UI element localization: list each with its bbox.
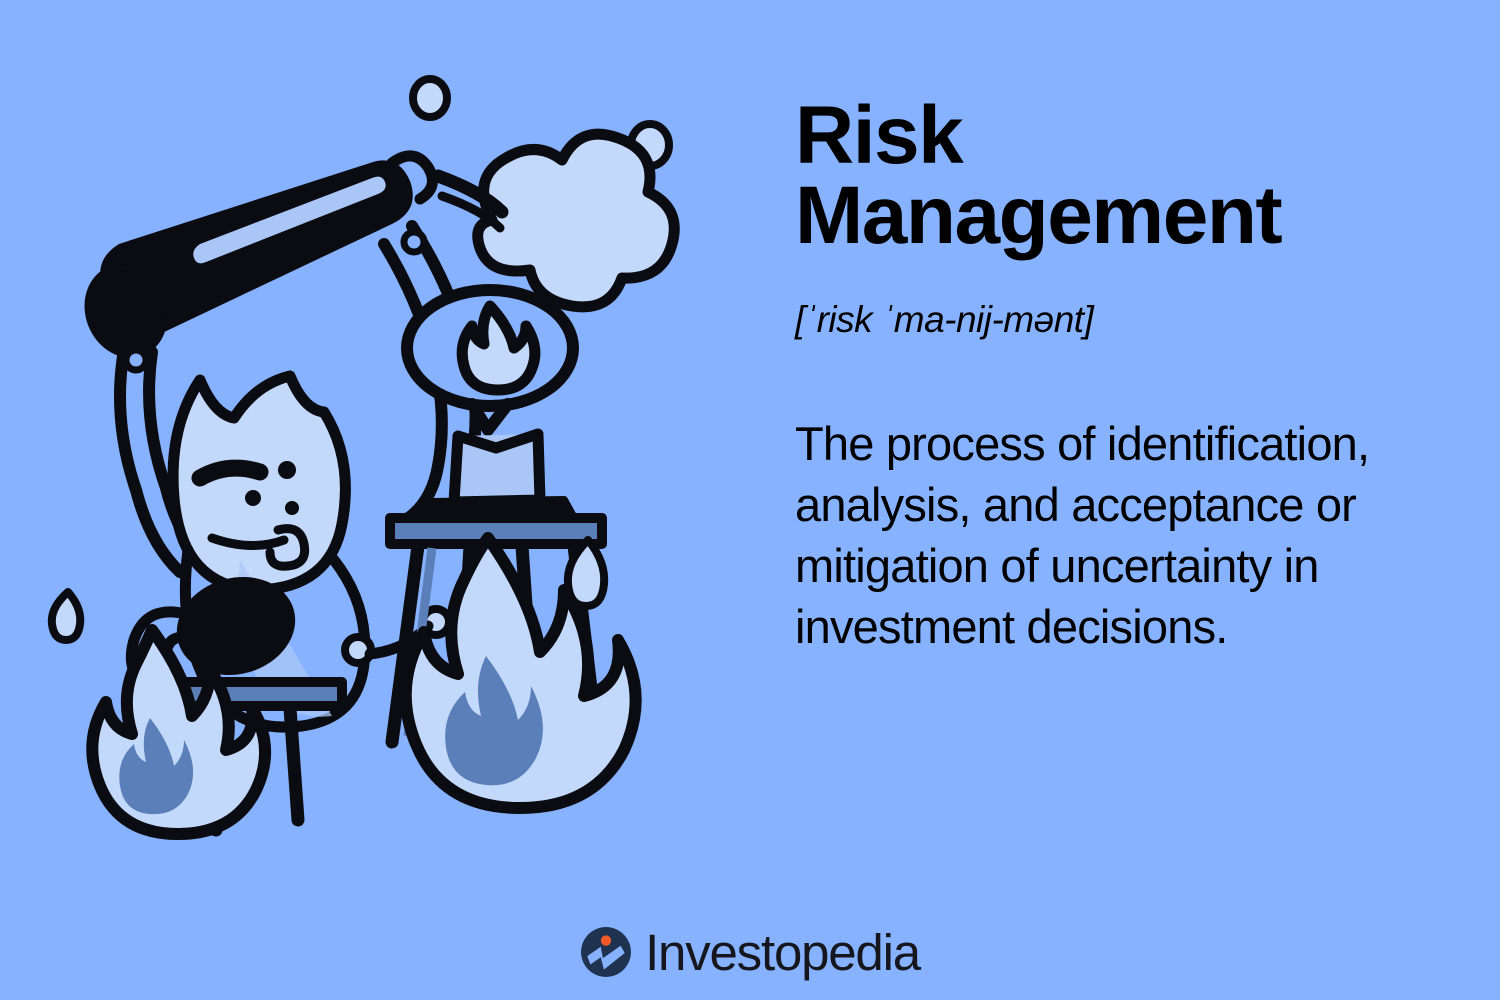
ember-left [52,592,80,640]
definition-card: .ol { stroke:#0b0b12; stroke-linecap:rou… [0,0,1500,1000]
smoke-cloud [478,134,675,307]
page-title: Risk Management [795,96,1395,257]
investopedia-logo: Investopedia [0,926,1500,978]
illustration-cat-with-telescope: .ol { stroke:#0b0b12; stroke-linecap:rou… [40,30,740,870]
pronunciation: [ˈrisk ˈma-nij-mənt] [795,299,1455,341]
smoke-puff-small-left [413,79,447,117]
investopedia-logo-icon [580,926,632,978]
definition-text: The process of identification, analysis,… [795,413,1435,657]
speech-bubble [407,290,573,430]
term-text-column: Risk Management [ˈrisk ˈma-nij-mənt] The… [795,96,1455,657]
investopedia-wordmark: Investopedia [645,927,920,978]
illustration-svg: .ol { stroke:#0b0b12; stroke-linecap:rou… [40,30,740,870]
